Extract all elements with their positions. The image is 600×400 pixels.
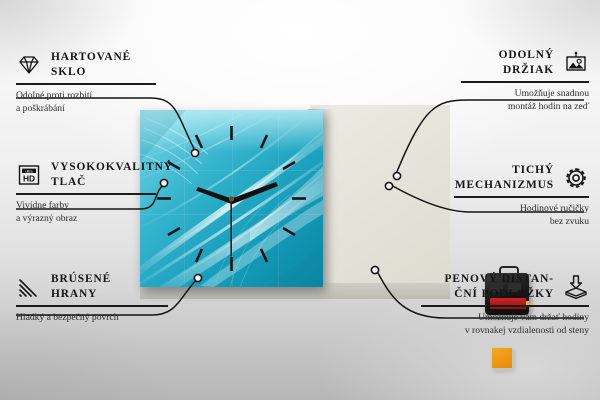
divider [16,83,156,85]
divider [454,196,589,198]
feature-subtitle: Umožňuje snadnou montáž hodin na zeď [399,87,589,114]
feature-tempered-glass: HARTOVANÉ SKLO Odolné proti rozbití a po… [16,50,201,116]
feature-header: BRÚSENÉ HRANY [16,272,201,301]
feature-header: ultra HD VYSOKOKVALITNÝ TLAČ [16,160,201,189]
press-down-pad-icon [563,274,589,300]
feature-title: TICHÝ MECHANIZMUS [455,163,554,192]
diamond-icon [16,52,42,78]
feature-high-quality-print: ultra HD VYSOKOKVALITNÝ TLAČ Vivídne far… [16,160,201,226]
feature-foam-spacers: PENOVÝ DISTAN- ČNÍ PODLOŽKY Umožňuje vám… [399,272,589,338]
feature-subtitle: Odolné proti rozbití a poškrábání [16,89,201,116]
feature-subtitle: Umožňuje vám držať hodiny v rovnakej vzd… [399,311,589,338]
divider [421,305,589,307]
feature-durable-hanger: ODOLNÝ DRŽIAK Umožňuje snadnou montáž ho… [399,48,589,114]
divider [16,305,168,307]
feature-polished-edges: BRÚSENÉ HRANY Hladký a bezpečný povrch [16,272,201,324]
feature-title: BRÚSENÉ HRANY [51,272,111,301]
node-silent-mechanism [385,182,392,189]
feature-subtitle: Vivídne farby a výrazný obraz [16,199,201,226]
divider [16,193,156,195]
divider [461,81,589,83]
feature-subtitle: Hodinové ručičky bez zvuku [399,202,589,229]
feature-title: PENOVÝ DISTAN- ČNÍ PODLOŽKY [444,272,554,301]
feature-header: ODOLNÝ DRŽIAK [399,48,589,77]
feature-header: HARTOVANÉ SKLO [16,50,201,79]
promo-infographic: HARTOVANÉ SKLO Odolné proti rozbití a po… [0,0,600,400]
diagonal-stripes-icon [16,274,42,300]
gear-icon [563,165,589,191]
feature-silent-mechanism: TICHÝ MECHANIZMUS Hodinové ručičky bez z… [399,163,589,229]
picture-frame-hanging-icon [563,50,589,76]
node-foam-spacers [371,266,378,273]
feature-header: PENOVÝ DISTAN- ČNÍ PODLOŽKY [399,272,589,301]
feature-header: TICHÝ MECHANIZMUS [399,163,589,192]
feature-title: HARTOVANÉ SKLO [51,50,131,79]
feature-subtitle: Hladký a bezpečný povrch [16,311,201,325]
svg-text:HD: HD [23,173,35,183]
node-tempered-glass [191,149,198,156]
feature-title: VYSOKOKVALITNÝ TLAČ [51,160,173,189]
feature-title: ODOLNÝ DRŽIAK [499,48,554,77]
ultra-hd-icon: ultra HD [16,162,42,188]
